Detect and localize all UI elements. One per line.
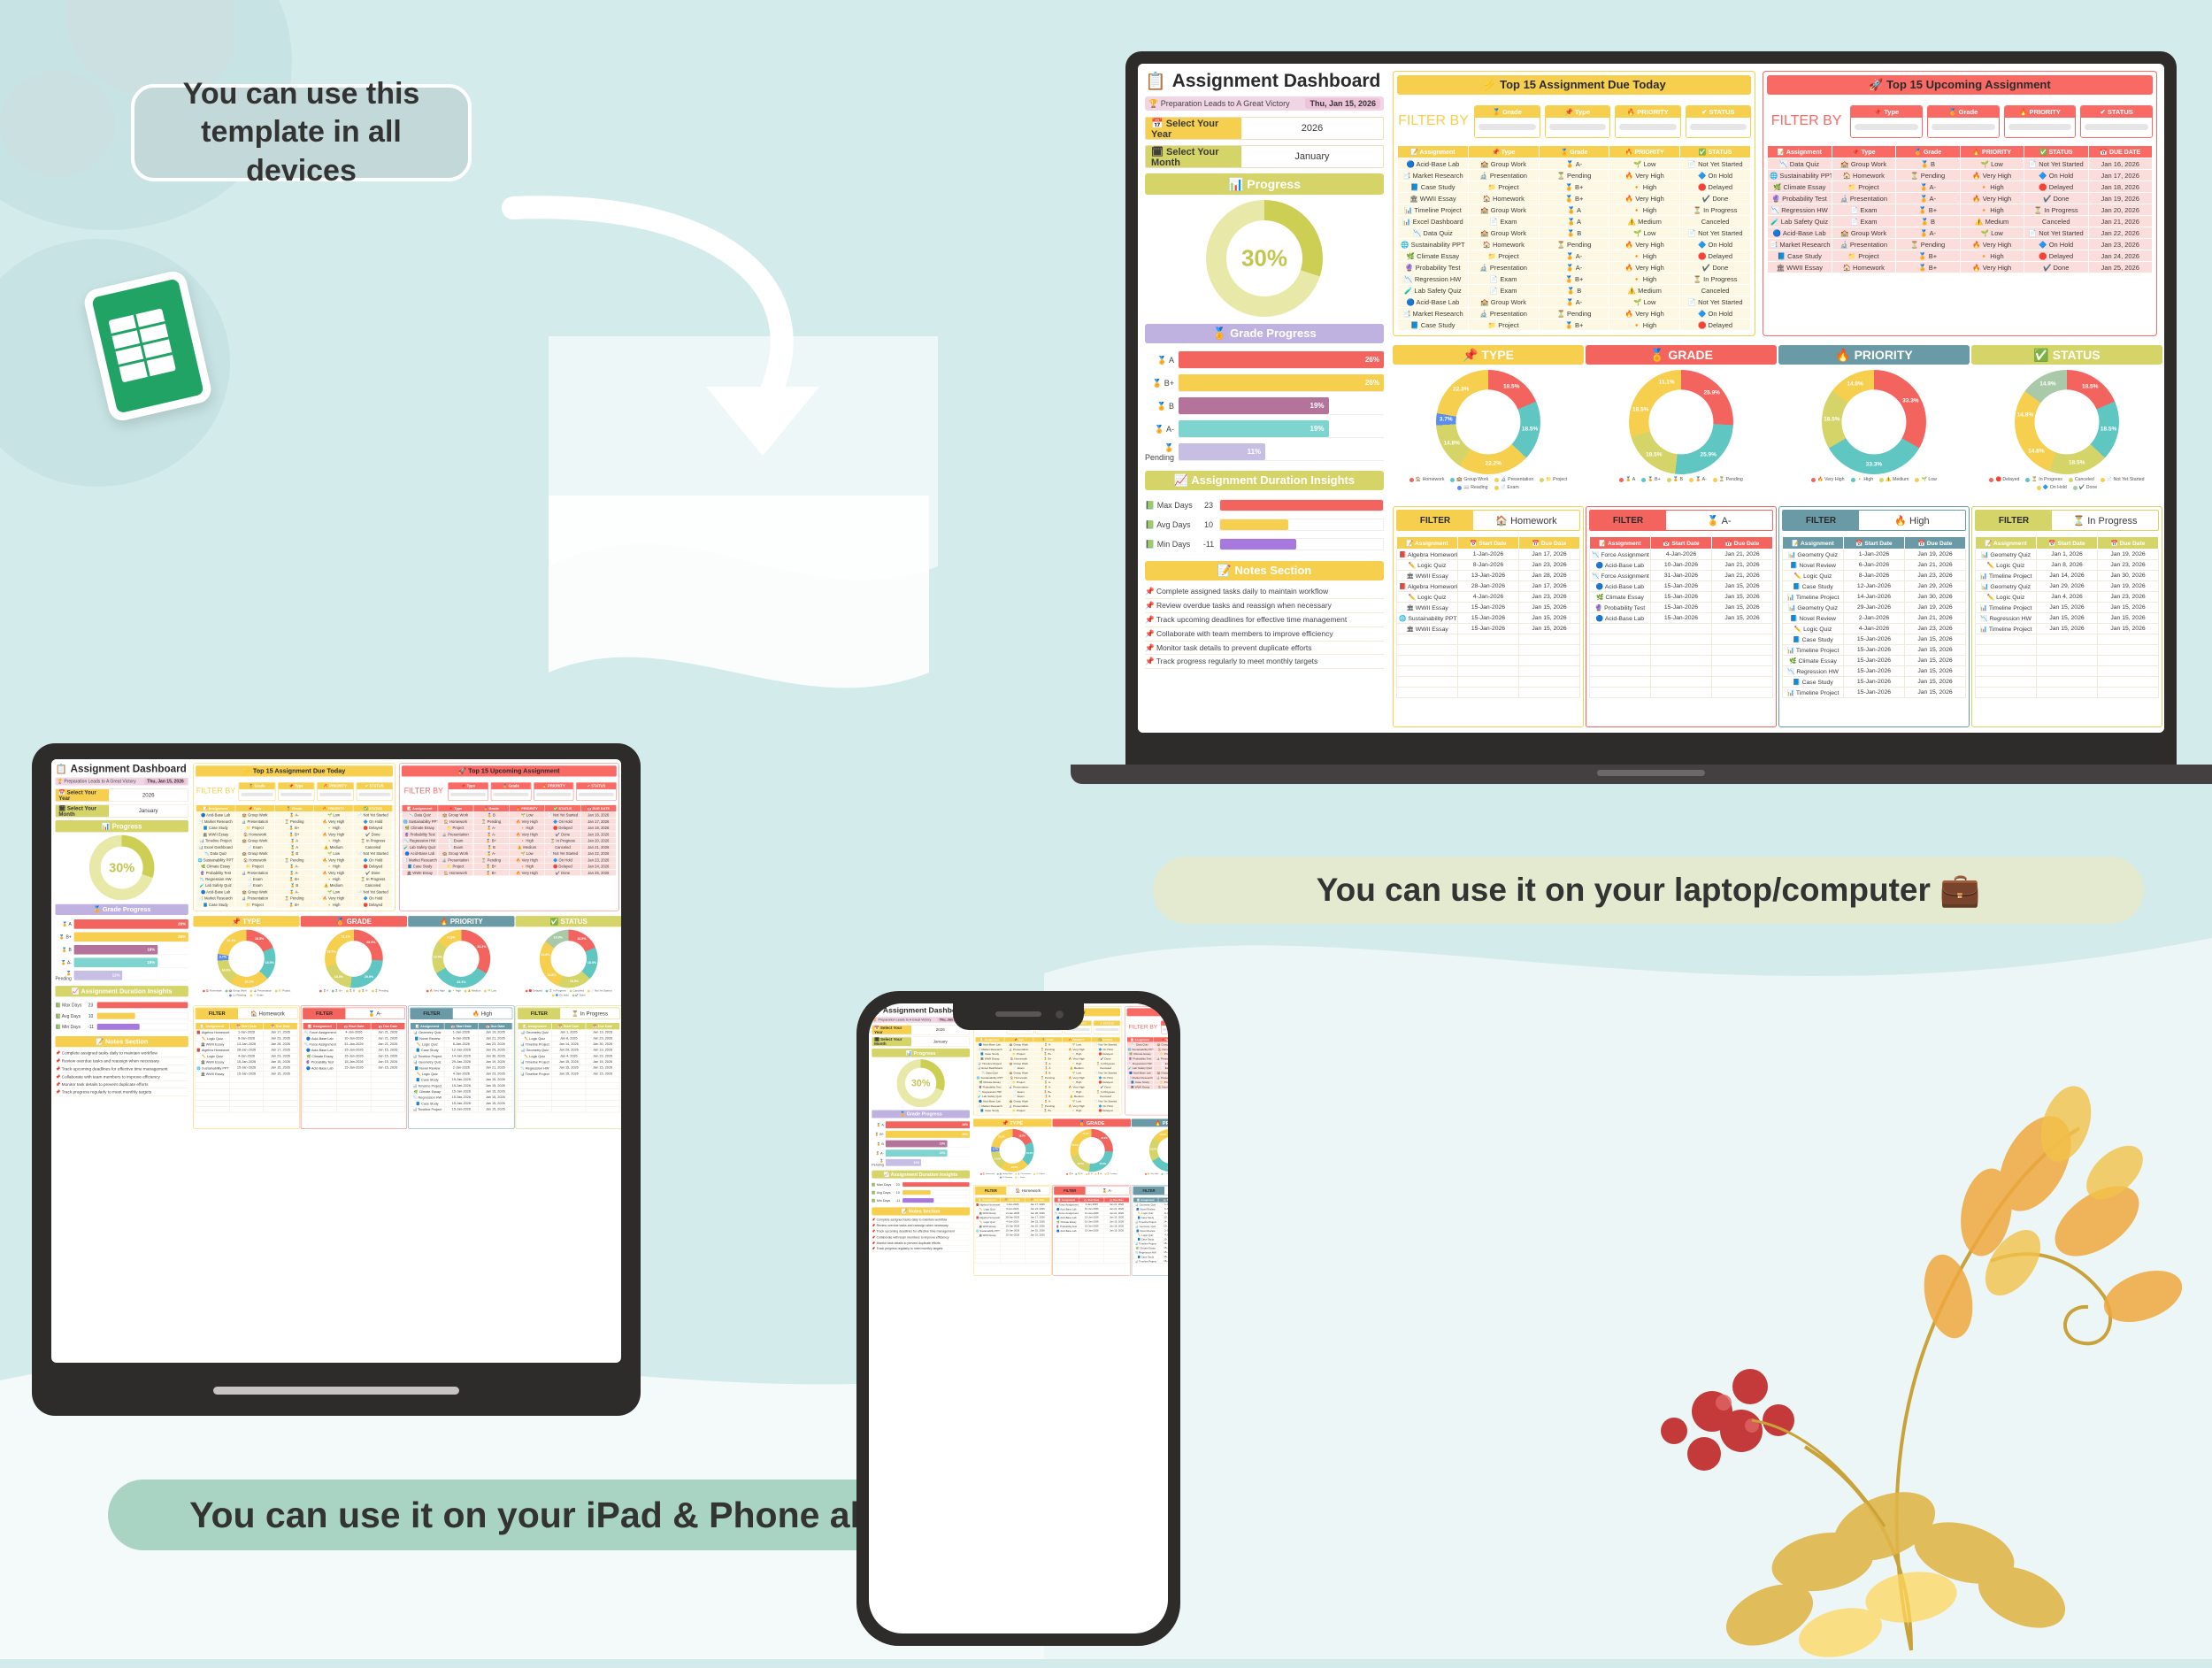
selector-value[interactable]: January: [1241, 146, 1383, 167]
legend-label: 📁 Project: [1546, 477, 1567, 482]
filter-box-label: ✔ STATUS: [357, 782, 392, 788]
selector-month[interactable]: 🗓 Select Your MonthJanuary: [1145, 145, 1384, 168]
legend-label: ⏳ Pending: [1107, 1172, 1117, 1174]
selector-value[interactable]: 2026: [109, 789, 188, 801]
date-badge[interactable]: Thu, Jan 15, 2026: [145, 779, 187, 785]
filter-label: FILTER: [1976, 511, 2052, 530]
grade-bar-fill: 19%: [74, 945, 157, 955]
filter-table-column-header: 📝 Assignment: [1590, 537, 1651, 550]
legend-swatch: [1879, 478, 1884, 482]
table-cell: 🔷 On Hold: [353, 895, 392, 901]
filter-row[interactable]: FILTER🏅 A-: [1054, 1187, 1129, 1195]
donut-hole: [228, 941, 265, 977]
table-cell: 📑 Market Research: [1398, 308, 1469, 319]
filter-table-cell: Jan 15, 2026: [586, 1059, 619, 1065]
filter-table-cell: 29-Jan-2026: [1844, 603, 1905, 613]
table-cell: 🏫 Group Work: [438, 850, 473, 857]
grade-bar-value: 19%: [940, 1142, 946, 1146]
laptop-screen: 📋Assignment Dashboard🏆 Preparation Leads…: [1138, 64, 2164, 733]
legend-swatch: [1619, 478, 1624, 482]
filter-row[interactable]: FILTER🏠 Homework: [1396, 510, 1580, 531]
grade-bar-row: 🏅 A26%: [872, 1120, 970, 1130]
filter-box[interactable]: 📌 Type: [278, 782, 314, 801]
filter-table-cell: [1458, 688, 1519, 698]
legend-swatch: [1015, 1173, 1017, 1175]
legend-label: ⏳ In Progress: [549, 989, 566, 992]
filter-table-cell: 🏛 WWII Essay: [1397, 571, 1458, 581]
filter-table-cell: 15-Jan-2026: [1651, 581, 1712, 592]
filter-table-row: 📕 Algebra Homework28-Jan-2026Jan 17, 202…: [196, 1048, 297, 1054]
filter-table-row: 📊 Timeline Project15-Jan-2026Jan 15, 202…: [411, 1083, 512, 1089]
filter-table-cell: Jan 23, 2026: [479, 1071, 512, 1077]
table-cell: ⚠️ Medium: [314, 844, 353, 850]
filter-pill: [2008, 124, 2072, 130]
grade-bar-fill: 19%: [886, 1149, 948, 1157]
chart-legend: 🔥 Very High🔸 High⚠️ Medium🌱 Low: [410, 989, 512, 992]
filter-table-cell: [1976, 666, 2037, 677]
table-row: 🧪 Lab Safety Quiz📄 Exam🏅 B⚠️ MediumCance…: [1398, 285, 1751, 296]
filter-row[interactable]: FILTER🏠 Homework: [975, 1187, 1050, 1195]
chart-title: ✅ STATUS: [2033, 348, 2100, 363]
legend-label: 🔬 Presentation: [253, 989, 272, 992]
filter-data-table: 📝 Assignment📅 Start Date📅 Due Date📊 Geom…: [1133, 1197, 1168, 1264]
selector-year[interactable]: 📅 Select Your Year2026: [55, 788, 188, 801]
filter-table-column-header: 📅 Due Date: [371, 1023, 404, 1030]
duration-bar-fill: [1220, 539, 1296, 550]
filter-table-header-row: 📝 Assignment📅 Start Date📅 Due Date: [1976, 537, 2159, 550]
filter-table-cell: 15-Jan-2026: [337, 1048, 371, 1054]
filter-table-cell: ✏️ Logic Quiz: [1783, 624, 1844, 634]
left-column: 📋Assignment Dashboard🏆 Preparation Leads…: [872, 1006, 970, 1251]
grade-bar-value: 19%: [1310, 425, 1325, 433]
table-cell: 🏅 A: [274, 837, 313, 843]
filter-table-cell: Jan 29, 2026: [552, 1048, 586, 1054]
filter-table-row: 🔵 Acid-Base Lab15-Jan-2026Jan 15, 2026: [1590, 581, 1773, 592]
filter-table-cell: [1712, 624, 1773, 634]
progress-donut: 30%: [897, 1059, 945, 1107]
chart-header: 🔥 PRIORITY: [1132, 1118, 1168, 1126]
table-row: 📊 Timeline Project🏫 Group Work🏅 A🔸 High⏳…: [1398, 204, 1751, 216]
filter-table-cell: [1104, 1259, 1129, 1264]
selector-year[interactable]: 📅 Select Your Year2026: [1145, 117, 1384, 140]
notes-item: 📌 Collaborate with team members to impro…: [55, 1073, 188, 1081]
filter-table-row: 🔵 Acid-Base Lab15-Jan-2026Jan 15, 2026: [303, 1065, 404, 1072]
filter-bar: FILTER BY📌 Type🏅 Grade🔥 PRIORITY✔ STATUS: [1127, 1019, 1168, 1035]
filter-label: FILTER: [303, 1008, 346, 1018]
duration-insights-title: 📈 Assignment Duration Insights: [72, 988, 173, 995]
chart-body: 18.5%18.5%22.2%14.8%3.7%22.3%🏠 Homework🏫…: [193, 926, 299, 996]
filter-table-panel-0: FILTER🏠 Homework📝 Assignment📅 Start Date…: [193, 1005, 299, 1128]
filter-table-cell: Jan 15, 2026: [2098, 603, 2159, 613]
filter-box[interactable]: 📌 Type: [1161, 1020, 1168, 1034]
filter-table-cell: 📕 Algebra Homework: [1397, 550, 1458, 560]
filter-table-header-row: 📝 Assignment📅 Start Date📅 Due Date: [411, 1023, 512, 1030]
filter-table-panel-1: FILTER🏅 A-📝 Assignment📅 Start Date📅 Due …: [1586, 506, 1777, 727]
filter-box-value[interactable]: [1546, 118, 1610, 137]
filter-table-cell: [1519, 666, 1580, 677]
selector-year[interactable]: 📅 Select Your Year2026: [872, 1026, 970, 1035]
legend-swatch: [2025, 478, 2030, 482]
table-cell: ⏳ Pending: [1539, 170, 1609, 181]
filter-box-value[interactable]: [491, 789, 530, 800]
duration-bar-fill: [97, 1003, 188, 1009]
filter-box[interactable]: 🔥 PRIORITY: [317, 782, 353, 801]
filter-value[interactable]: 🏅 A-: [1086, 1187, 1129, 1195]
table-cell: 📉 Data Quiz: [402, 811, 437, 818]
table-row: 🌿 Climate Essay📁 Project🏅 A-🔸 High🛑 Dela…: [402, 825, 616, 831]
legend-label: 🏅 A-: [362, 989, 368, 992]
filter-value[interactable]: 🏅 A-: [345, 1008, 404, 1018]
donut-ring: [540, 930, 598, 988]
table-cell: Jan 23, 2026: [580, 857, 616, 863]
table-row: 📘 Case Study📁 Project🏅 B+🔸 High🛑 Delayed: [196, 825, 392, 831]
selector-value[interactable]: January: [911, 1037, 970, 1046]
filter-table-row: 📊 Timeline ProjectJan 14, 2026Jan 30, 20…: [518, 1042, 619, 1048]
table-cell: ⏳ Pending: [1896, 170, 1961, 181]
table-row: 🌐 Sustainability PPT🏠 Homework⏳ Pending🔥…: [1398, 239, 1751, 250]
filter-row[interactable]: FILTER⏳ In Progress: [1975, 510, 2159, 531]
table-cell: 🔸 High: [1609, 273, 1680, 285]
filter-row[interactable]: FILTER🏅 A-: [1589, 510, 1773, 531]
filter-box-value[interactable]: [2005, 118, 2076, 137]
filter-label: FILTER: [518, 1008, 560, 1018]
table-cell: 🧪 Lab Safety Quiz: [196, 882, 234, 888]
filter-row[interactable]: FILTER🔥 High: [410, 1008, 512, 1019]
filter-table-cell: 🌐 Sustainability PPT: [196, 1065, 229, 1072]
filter-value[interactable]: 🏠 Homework: [1006, 1187, 1049, 1195]
notes-list: 📌 Complete assigned tasks daily to maint…: [1145, 585, 1384, 669]
legend-swatch: [1494, 486, 1499, 490]
filter-label: FILTER: [1590, 511, 1666, 530]
filter-table-panel-0: FILTER🏠 Homework📝 Assignment📅 Start Date…: [973, 1185, 1052, 1276]
donut-chart-priority: 33.3%33.3%18.5%14.8%: [1149, 1129, 1168, 1172]
donut-slice-label: 18.5%: [1646, 451, 1662, 457]
date-badge[interactable]: Thu, Jan 15, 2026: [1305, 98, 1380, 109]
filter-bar: FILTER BY🏅 Grade📌 Type🔥 PRIORITY✔ STATUS: [196, 780, 393, 803]
filter-box[interactable]: 🔥 PRIORITY: [1615, 105, 1681, 138]
grade-bar-value: 26%: [1365, 379, 1379, 387]
filter-box-value[interactable]: [1616, 118, 1680, 137]
legend-label: 🔸 High: [1857, 477, 1874, 482]
filter-table-row: ✏️ Logic QuizJan 4, 2026Jan 23, 2026: [518, 1053, 619, 1059]
filter-value[interactable]: 🏠 Homework: [238, 1008, 297, 1018]
table-cell: 🔬 Presentation: [1468, 170, 1539, 181]
filter-table-cell: [303, 1088, 336, 1095]
duration-bar-fill: [902, 1190, 931, 1195]
filter-table-cell: 4-Jan-2026: [444, 1071, 478, 1077]
filter-pill: [1095, 1028, 1118, 1031]
filter-table-cell: 🌿 Climate Essay: [411, 1088, 444, 1095]
panel-header: 🚀 Top 15 Upcoming Assignment: [1767, 75, 2153, 95]
filter-table-cell: [1025, 1259, 1050, 1264]
filter-table-cell: Jan 19, 2026: [586, 1029, 619, 1035]
filter-box[interactable]: 🔥 PRIORITY: [534, 782, 574, 801]
grade-bar-row: 🏅 A-19%: [55, 957, 188, 969]
table-cell: 🔷 On Hold: [1680, 239, 1751, 250]
filter-table-cell: Jan 15, 2026: [552, 1059, 586, 1065]
grade-progress-title: 🏅 Grade Progress: [900, 1111, 942, 1118]
chart-legend: 🏠 Homework🏫 Group Work🔬 Presentation📁 Pr…: [975, 1172, 1050, 1178]
table-row: 📘 Case Study📁 Project🏅 B+🔸 High🛑 Delayed: [196, 902, 392, 908]
filter-row[interactable]: FILTER🔥 High: [1133, 1187, 1168, 1195]
duration-bar-fill: [97, 1024, 140, 1030]
filter-table-cell: Jan 14, 2026: [2037, 571, 2098, 581]
grade-bar-row: 🏅 A26%: [1145, 349, 1384, 372]
table-cell: 📉 Regression HW: [1768, 204, 1832, 216]
filter-table-cell: Jan 15, 2026: [1519, 613, 1580, 624]
table-cell: 🏅 A-: [1539, 262, 1609, 273]
donut-slice-label: 14.8%: [446, 936, 455, 940]
filter-table-cell: [1397, 677, 1458, 688]
callout-all-devices-text: You can use this template in all devices: [145, 75, 457, 191]
chart-title: 🏅 GRADE: [1079, 1119, 1104, 1126]
filter-box[interactable]: 📌 Type: [1545, 105, 1611, 138]
filter-table-cell: [586, 1101, 619, 1107]
filter-box[interactable]: 🏅 Grade: [239, 782, 275, 801]
chart-body: 18.5%18.5%18.5%14.8%14.8%14.9%🛑 Delayed⏳…: [516, 926, 621, 996]
selector-month[interactable]: 🗓 Select Your MonthJanuary: [55, 804, 188, 817]
filter-table-row: 🏛 WWII Essay15-Jan-2026Jan 15, 2026: [1397, 624, 1580, 634]
filter-box-value[interactable]: [357, 789, 392, 800]
donut-ring: [1629, 370, 1733, 474]
filter-table-cell: [518, 1083, 551, 1089]
filter-row[interactable]: FILTER⏳ In Progress: [518, 1008, 620, 1019]
filter-table-cell: Jan 15, 2026: [371, 1048, 404, 1054]
filter-box[interactable]: 📌 Type: [1850, 105, 1923, 138]
filter-box[interactable]: 🏅 Grade: [1927, 105, 2000, 138]
filter-table-cell: Jan 15, 2026: [1519, 603, 1580, 613]
filter-pill: [493, 793, 528, 796]
legend-label: 📖 Reading: [1463, 485, 1487, 490]
filter-row[interactable]: FILTER🏠 Homework: [196, 1008, 298, 1019]
progress-title: 📊 Progress: [906, 1049, 936, 1056]
filter-box-value[interactable]: [1686, 118, 1751, 137]
grade-bar-label: 🏅 A: [872, 1123, 886, 1127]
filter-table-cell: 14-Jan-2026: [1844, 592, 1905, 603]
filter-table-cell: [1712, 634, 1773, 645]
table-cell: 🔥 Very High: [314, 831, 353, 837]
table-cell: 🏅 B: [274, 850, 313, 857]
filter-value[interactable]: ⏳ In Progress: [560, 1008, 619, 1018]
grade-bar-label: 🏅 B: [872, 1141, 886, 1146]
legend-swatch: [1066, 1173, 1068, 1175]
chart-header: 🏅 GRADE: [1052, 1118, 1131, 1126]
filter-box-value[interactable]: [1851, 118, 1922, 137]
filter-box[interactable]: ✔ STATUS: [2080, 105, 2153, 138]
filter-table-cell: 🔵 Acid-Base Lab: [1590, 560, 1651, 571]
filter-box-value[interactable]: [2081, 118, 2152, 137]
filter-table-cell: 8-Jan-2026: [1458, 560, 1519, 571]
filter-box[interactable]: ✔ STATUS: [576, 782, 617, 801]
chart-header: 📌 TYPE: [973, 1118, 1052, 1126]
filter-table-cell: Jan 19, 2026: [1905, 550, 1966, 560]
filter-value[interactable]: 🔥 High: [453, 1008, 512, 1018]
table-cell: 🏅 B+: [1896, 204, 1961, 216]
selector-value[interactable]: 2026: [1241, 118, 1383, 139]
filter-box-value[interactable]: [1475, 118, 1540, 137]
donut-slice-label: 25.9%: [1100, 1163, 1107, 1165]
filter-box[interactable]: ✔ STATUS: [1686, 105, 1752, 138]
chart-legend: 🏅 A🏅 B+🏅 B🏅 A-⏳ Pending: [1054, 1172, 1129, 1174]
filter-table-row: 📊 Timeline ProjectJan 15, 2026Jan 15, 20…: [518, 1071, 619, 1077]
filter-value[interactable]: 🏅 A-: [1666, 511, 1772, 530]
filter-box-value[interactable]: [318, 789, 353, 800]
table-cell: 🧪 Lab Safety Quiz: [1398, 285, 1469, 296]
selector-month[interactable]: 🗓 Select Your MonthJanuary: [872, 1037, 970, 1047]
filter-table-cell: [1458, 656, 1519, 666]
filter-table-cell: 🔵 Acid-Base Lab: [1590, 613, 1651, 624]
filter-table-row: [1976, 677, 2159, 688]
filter-box[interactable]: 🔥 PRIORITY: [2004, 105, 2077, 138]
tagline-text: 🏆 Preparation Leads to A Great Victory: [58, 779, 145, 784]
filter-table-cell: Jan 28, 2026: [264, 1042, 297, 1048]
selector-value[interactable]: January: [109, 805, 188, 817]
table-cell: 🏫 Group Work: [1832, 227, 1896, 239]
filter-table-cell: [229, 1088, 263, 1095]
donut-slice-label: 11.1%: [1659, 380, 1675, 386]
filter-table-cell: ✏️ Logic Quiz: [196, 1053, 229, 1059]
table-cell: 🔥 Very High: [314, 857, 353, 863]
table-cell: ⏳ Pending: [1539, 308, 1609, 319]
grade-bar-value: 19%: [940, 1151, 946, 1155]
donut-slice-label: 25.9%: [365, 975, 373, 979]
filter-value[interactable]: 🔥 High: [1164, 1187, 1168, 1195]
filter-value[interactable]: ⏳ In Progress: [2052, 511, 2158, 530]
table-row: 🌐 Sustainability PPT🏠 Homework⏳ Pending🔥…: [402, 819, 616, 825]
notes-item: 📌 Review overdue tasks and reassign when…: [1145, 599, 1384, 613]
table-cell: 🔵 Acid-Base Lab: [1398, 158, 1469, 170]
grade-bar-track: 19%: [1179, 420, 1384, 438]
table-cell: 📉 Data Quiz: [1398, 227, 1469, 239]
progress-donut: 30%: [1206, 200, 1323, 317]
filter-table-cell: ✏️ Logic Quiz: [1976, 592, 2037, 603]
filter-table-cell: [303, 1071, 336, 1077]
filter-table-row: [1590, 645, 1773, 656]
filter-table-cell: [1458, 666, 1519, 677]
duration-bar-label: 📗 Min Days: [55, 1024, 84, 1029]
filter-table-cell: 8-Jan-2026: [229, 1035, 263, 1042]
duration-bar-track: [902, 1182, 970, 1188]
filter-table-cell: [552, 1077, 586, 1083]
filter-value[interactable]: 🏠 Homework: [1473, 511, 1579, 530]
legend-item: ⏳ Pending: [1104, 1172, 1117, 1174]
filter-box-value[interactable]: [1928, 118, 1999, 137]
chart-legend: 🔥 Very High🔸 High⚠️ Medium🌱 Low: [1133, 1172, 1168, 1174]
filter-value[interactable]: 🔥 High: [1859, 511, 1965, 530]
table-cell: ⏳ In Progress: [2024, 204, 2089, 216]
notes-list: 📌 Complete assigned tasks daily to maint…: [55, 1049, 188, 1096]
table-cell: 🏠 Homework: [1832, 262, 1896, 273]
filter-box[interactable]: ✔ STATUS: [1094, 1020, 1121, 1034]
filter-table-panel-3: FILTER⏳ In Progress📝 Assignment📅 Start D…: [1971, 506, 2162, 727]
donut-slice-label: 25.9%: [1101, 1137, 1108, 1140]
notes-item: 📌 Track upcoming deadlines for effective…: [1145, 613, 1384, 627]
filter-box-value[interactable]: [449, 789, 488, 800]
legend-label: 🏅 B: [349, 989, 355, 992]
filter-table-row: 📊 Timeline ProjectJan 15, 2026Jan 15, 20…: [518, 1059, 619, 1065]
filter-table-cell: [2037, 634, 2098, 645]
filter-table-column-header: 📅 Due Date: [586, 1023, 619, 1030]
table-row: 🔮 Probability Test🔬 Presentation🏅 A-🔥 Ve…: [1398, 262, 1751, 273]
table-cell: 🌱 Low: [1609, 158, 1680, 170]
notes-item: 📌 Track upcoming deadlines for effective…: [55, 1065, 188, 1073]
filter-box-value[interactable]: [1094, 1026, 1120, 1034]
filter-table-cell: 28-Jan-2026: [229, 1048, 263, 1054]
filter-table-cell: Jan 21, 2026: [479, 1035, 512, 1042]
filter-table-column-header: 📅 Due Date: [264, 1023, 297, 1030]
legend-item: 🏫 Group Work: [1450, 477, 1488, 482]
filter-box[interactable]: 🏅 Grade: [1474, 105, 1540, 138]
filter-box-value[interactable]: [577, 789, 616, 800]
legend-swatch: [319, 989, 322, 992]
data-table: 📝 Assignment📌 Type🏅 Grade🔥 PRIORITY✅ STA…: [975, 1037, 1120, 1113]
legend-item: 🏅 B: [1086, 1172, 1093, 1174]
filter-box[interactable]: ✔ STATUS: [356, 782, 392, 801]
table-cell: Jan 20, 2026: [580, 837, 616, 843]
filter-table-row: ✏️ Logic Quiz4-Jan-2026Jan 23, 2026: [411, 1071, 512, 1077]
donut-hole: [550, 941, 587, 977]
table-cell: ⏳ In Progress: [1680, 204, 1751, 216]
filter-table-cell: Jan 29, 2026: [1905, 581, 1966, 592]
table-row: 📉 Regression HW📄 Exam🏅 B+🔸 High⏳ In Prog…: [402, 837, 616, 843]
legend-label: 🏅 B+: [1078, 1172, 1083, 1174]
table-row: 📑 Market Research🔬 Presentation⏳ Pending…: [402, 857, 616, 863]
filter-table-cell: 8-Jan-2026: [444, 1042, 478, 1048]
filter-box[interactable]: 📌 Type: [448, 782, 488, 801]
duration-bar-track: [96, 1023, 188, 1030]
filter-table-cell: [552, 1088, 586, 1095]
filter-table-cell: Jan 15, 2026: [1905, 688, 1966, 698]
filter-data-table: 📝 Assignment📅 Start Date📅 Due Date📉 Forc…: [1054, 1197, 1129, 1264]
chart-legend: 🏠 Homework🏫 Group Work🔬 Presentation📁 Pr…: [1396, 477, 1580, 490]
table-cell: 📄 Exam: [438, 844, 473, 850]
filter-table-cell: 📕 Algebra Homework: [1397, 581, 1458, 592]
callout-ipad-phone-text: You can use it on your iPad & Phone also: [189, 1495, 902, 1536]
filter-table-cell: [371, 1095, 404, 1101]
filter-table-cell: Jan 17, 2026: [264, 1048, 297, 1054]
filter-row[interactable]: FILTER🔥 High: [1782, 510, 1966, 531]
filter-table-cell: ✏️ Logic Quiz: [196, 1035, 229, 1042]
table-column-header: 🔥 PRIORITY: [509, 805, 544, 812]
legend-swatch: [203, 989, 205, 992]
filter-table-cell: Jan 15, 2026: [1905, 634, 1966, 645]
filter-row[interactable]: FILTER🏅 A-: [303, 1008, 405, 1019]
filter-box-value[interactable]: [239, 789, 274, 800]
grade-bar-track: 19%: [886, 1149, 970, 1157]
filter-table-row: 📉 Regression HW15-Jan-2026Jan 15, 2026: [411, 1095, 512, 1101]
filter-box[interactable]: 🏅 Grade: [491, 782, 532, 801]
filter-box-label: ✔ STATUS: [1686, 106, 1751, 118]
table-cell: ⏳ Pending: [274, 819, 313, 825]
filter-box-value[interactable]: [278, 789, 313, 800]
legend-item: 🔥 Very High: [426, 989, 445, 992]
filter-table-cell: [586, 1083, 619, 1089]
legend-item: 🏠 Homework: [1409, 477, 1445, 482]
legend-item: ⏳ In Progress: [546, 989, 566, 992]
legend-item: Canceled: [570, 989, 584, 992]
table-cell: Jan 21, 2026: [580, 844, 616, 850]
table-cell: 🔮 Probability Test: [1768, 193, 1832, 204]
donut-slice-label: 22.3%: [227, 939, 235, 942]
filter-table-row: [303, 1095, 404, 1101]
chart-body: 25.9%25.9%18.5%18.5%11.1%🏅 A🏅 B+🏅 B🏅 A-⏳…: [1052, 1126, 1131, 1175]
filter-box-value[interactable]: [534, 789, 573, 800]
donut-slice-label: 11.1%: [342, 935, 350, 939]
filter-table-cell: Jan 29, 2026: [2037, 581, 2098, 592]
filter-table-cell: 📘 Case Study: [411, 1077, 444, 1083]
table-cell: 🏅 B+: [1539, 181, 1609, 193]
filter-box-value[interactable]: [1162, 1026, 1168, 1034]
